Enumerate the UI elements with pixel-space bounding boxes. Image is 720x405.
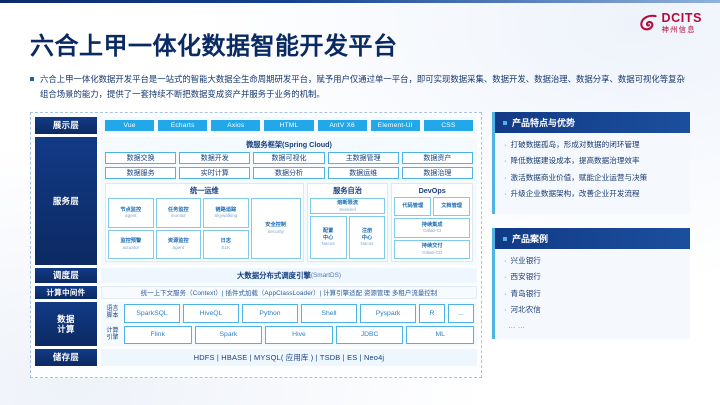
ops-cell-en: ELK (222, 245, 231, 251)
autonomy-en: Sentinel (339, 207, 356, 213)
tech-chip[interactable]: Vue (105, 120, 154, 131)
page-title: 六合上甲一体化数据智能开发平台 (30, 26, 398, 61)
script-box[interactable]: Shell (301, 304, 357, 323)
devops-cell-ci[interactable]: 持续集成 Gitlab-CI (394, 218, 470, 237)
layer-scheduling: 调度层 (35, 268, 97, 283)
autonomy-cell-config-center[interactable]: 配置 中心 Nacos (310, 216, 347, 259)
feature-item: · 降低数据建设成本，提高数据治理效率 (504, 156, 681, 166)
devops-cn: 代码管理 (402, 203, 423, 210)
autonomy-cn: 注册 中心 (362, 228, 372, 241)
tech-chip[interactable]: Axios (211, 120, 260, 131)
function-box[interactable]: 数据服务 (105, 167, 176, 179)
bullet-square-icon (30, 77, 34, 81)
storage-bar: HDFS | HBASE | MYSQL( 应用库 ) | TSDB | ES … (101, 349, 477, 366)
case-text: 河北农信 (511, 305, 541, 315)
ops-cell-en: Skywalking (214, 213, 237, 219)
function-box[interactable]: 数据治理 (402, 167, 473, 179)
ops-panel-title: 统一运维 (108, 186, 301, 198)
ops-cell[interactable]: 日志 ELK (203, 230, 249, 260)
feature-item: · 升级企业数据架构，改善企业开发流程 (504, 189, 681, 199)
function-box[interactable]: 数据运维 (328, 167, 399, 179)
service-autonomy-panel: 服务自治 熔断限流 Sentinel (307, 183, 389, 262)
script-row: SparkSQL HiveQL Python Shell Pyspark R .… (124, 304, 474, 323)
ops-cell[interactable]: 监控预警 actuator (108, 230, 154, 260)
engine-box[interactable]: JDBC (336, 326, 404, 345)
tech-chip[interactable]: CSS (424, 120, 473, 131)
header-square-icon (503, 121, 507, 125)
scheduling-engine-cn: 大数据分布式调度引擎 (237, 270, 311, 281)
slide-root: DCITS 神州信息 六合上甲一体化数据智能开发平台 六合上甲一体化数据开发平台… (0, 0, 720, 405)
devops-panel-title: DevOps (394, 186, 470, 197)
top-accent-bar (0, 0, 720, 3)
devops-cn: 文档管理 (441, 203, 462, 210)
function-box[interactable]: 数据资产 (402, 152, 473, 164)
case-text: 青岛银行 (511, 289, 541, 299)
engine-box[interactable]: Flink (124, 326, 192, 345)
list-dot-icon: · (504, 156, 507, 166)
devops-en: Gitlab-CD (422, 250, 442, 256)
list-dot-icon: · (504, 173, 507, 183)
ops-cell-en: agent (173, 245, 185, 251)
case-item: · 西安银行 (504, 272, 681, 282)
list-dot-icon: · (504, 305, 507, 315)
security-control-cell[interactable]: 安全控制 Security (251, 198, 301, 259)
ops-cell-en: actuator (122, 245, 139, 251)
ops-cell[interactable]: 任务监控 monitor (156, 198, 202, 228)
feature-text: 打破数据孤岛，形成对数据的闭环管理 (511, 140, 640, 150)
devops-cell-cd[interactable]: 持续交付 Gitlab-CD (394, 240, 470, 259)
list-dot-icon: · (504, 140, 507, 150)
devops-en: Gitlab-CI (423, 228, 441, 234)
compute-label-script: 语言 脚本 (104, 304, 121, 323)
layer-compute: 数据 计算 (35, 302, 97, 346)
engine-row: Flink Spark Hive JDBC ML (124, 326, 474, 345)
case-item: · 河北农信 (504, 305, 681, 315)
layer-label-column: 展示层 服务层 调度层 计算中间件 数据 计算 储存层 (35, 117, 97, 373)
feature-text: 降低数据建设成本，提高数据治理效率 (511, 156, 640, 166)
layer-service: 服务层 (35, 137, 97, 265)
logo-cn-text: 神州信息 (662, 26, 703, 33)
logo-en-text: DCITS (662, 12, 703, 25)
function-box[interactable]: 数据交换 (105, 152, 176, 164)
devops-cell-doc-mgmt[interactable]: 文档管理 (433, 197, 470, 216)
brand-logo: DCITS 神州信息 (639, 12, 703, 33)
dcits-swirl-icon (639, 13, 658, 32)
cases-title: 产品案例 (512, 232, 548, 245)
tech-chip[interactable]: Element-UI (371, 120, 420, 131)
script-box[interactable]: HiveQL (183, 304, 239, 323)
case-item: · 兴业银行 (504, 256, 681, 266)
function-box[interactable]: 数据可视化 (253, 152, 324, 164)
scheduling-engine-bar: 大数据分布式调度引擎 (SmartDS) (101, 268, 477, 283)
microservice-framework-title: 微服务框架(Spring Cloud) (105, 139, 473, 152)
cases-card-header: 产品案例 (495, 228, 690, 249)
features-title: 产品特点与优势 (512, 116, 575, 129)
feature-item: · 打破数据孤岛，形成对数据的闭环管理 (504, 140, 681, 150)
ops-cell[interactable]: 链路追踪 Skywalking (203, 198, 249, 228)
scheduling-engine-en: (SmartDS) (311, 272, 341, 279)
tech-chip[interactable]: AntV X6 (318, 120, 367, 131)
script-box-more[interactable]: ... (448, 304, 474, 323)
script-box[interactable]: Python (242, 304, 298, 323)
security-en: Security (267, 229, 284, 235)
engine-box[interactable]: Spark (195, 326, 263, 345)
layer-middleware: 计算中间件 (35, 286, 97, 299)
compute-label-engine: 计算 引擎 (104, 326, 121, 345)
features-card-header: 产品特点与优势 (495, 112, 690, 133)
tech-chip[interactable]: HTML (264, 120, 313, 131)
ops-cell-en: agent (125, 213, 137, 219)
tech-chip[interactable]: Echarts (158, 120, 207, 131)
function-box[interactable]: 主数据管理 (328, 152, 399, 164)
header-square-icon (503, 237, 507, 241)
devops-cell-code-mgmt[interactable]: 代码管理 (394, 197, 431, 216)
right-column: 产品特点与优势 · 打破数据孤岛，形成对数据的闭环管理 · 降低数据建设成本，提… (492, 112, 690, 353)
cases-more: …… (504, 321, 681, 330)
list-dot-icon: · (504, 289, 507, 299)
script-box[interactable]: R (419, 304, 445, 323)
autonomy-en: Nacos (322, 241, 335, 247)
autonomy-en: Nacos (360, 241, 373, 247)
devops-panel: DevOps 代码管理 文档管理 (391, 183, 473, 262)
autonomy-panel-title: 服务自治 (310, 186, 386, 198)
presentation-chip-row: Vue Echarts Axios HTML AntV X6 Element-U… (101, 117, 477, 134)
function-grid: 数据交换 数据开发 数据可视化 主数据管理 数据资产 数据服务 实时计算 数据分… (105, 152, 473, 179)
script-box[interactable]: SparkSQL (124, 304, 180, 323)
architecture-panel: 展示层 服务层 调度层 计算中间件 数据 计算 储存层 Vue Echarts … (30, 112, 482, 378)
compute-block: 语言 脚本 计算 引擎 SparkSQL HiveQL Python Shell… (101, 302, 477, 346)
list-dot-icon: · (504, 256, 507, 266)
cases-card: 产品案例 · 兴业银行 · 西安银行 · 青岛银行 · 河北农信 (492, 228, 690, 339)
autonomy-cell-circuit-breaker[interactable]: 熔断限流 Sentinel (310, 198, 386, 214)
ops-cell[interactable]: 节点监控 agent (108, 198, 154, 228)
feature-item: · 激活数据商业价值，赋能企业运营与决策 (504, 173, 681, 183)
autonomy-cell-registry-center[interactable]: 注册 中心 Nacos (349, 216, 386, 259)
ops-cell-en: monitor (171, 213, 186, 219)
middleware-bar: 统一上下文服务（Context）| 插件式加载（AppClassLoader）|… (101, 286, 477, 299)
service-layer-block: 微服务框架(Spring Cloud) 数据交换 数据开发 数据可视化 主数据管… (101, 137, 477, 265)
autonomy-cn: 配置 中心 (323, 228, 333, 241)
case-item: · 青岛银行 (504, 289, 681, 299)
intro-text: 六合上甲一体化数据开发平台是一站式的智能大数据全生命周期研发平台，赋予用户仅通过… (40, 72, 690, 101)
feature-text: 升级企业数据架构，改善企业开发流程 (511, 189, 640, 199)
layer-presentation: 展示层 (35, 117, 97, 134)
script-box[interactable]: Pyspark (360, 304, 416, 323)
intro-paragraph: 六合上甲一体化数据开发平台是一站式的智能大数据全生命周期研发平台，赋予用户仅通过… (30, 72, 690, 101)
case-text: 兴业银行 (511, 256, 541, 266)
ops-panel: 统一运维 节点监控 agent 任务监控 monitor (105, 183, 304, 262)
function-box[interactable]: 实时计算 (179, 167, 250, 179)
list-dot-icon: · (504, 272, 507, 282)
ops-cell[interactable]: 资源监控 agent (156, 230, 202, 260)
list-dot-icon: · (504, 189, 507, 199)
engine-box[interactable]: Hive (265, 326, 333, 345)
function-box[interactable]: 数据分析 (253, 167, 324, 179)
function-box[interactable]: 数据开发 (179, 152, 250, 164)
feature-text: 激活数据商业价值，赋能企业运营与决策 (511, 173, 648, 183)
layer-storage: 储存层 (35, 349, 97, 366)
engine-box[interactable]: ML (406, 326, 474, 345)
features-card: 产品特点与优势 · 打破数据孤岛，形成对数据的闭环管理 · 降低数据建设成本，提… (492, 112, 690, 214)
case-text: 西安银行 (511, 272, 541, 282)
